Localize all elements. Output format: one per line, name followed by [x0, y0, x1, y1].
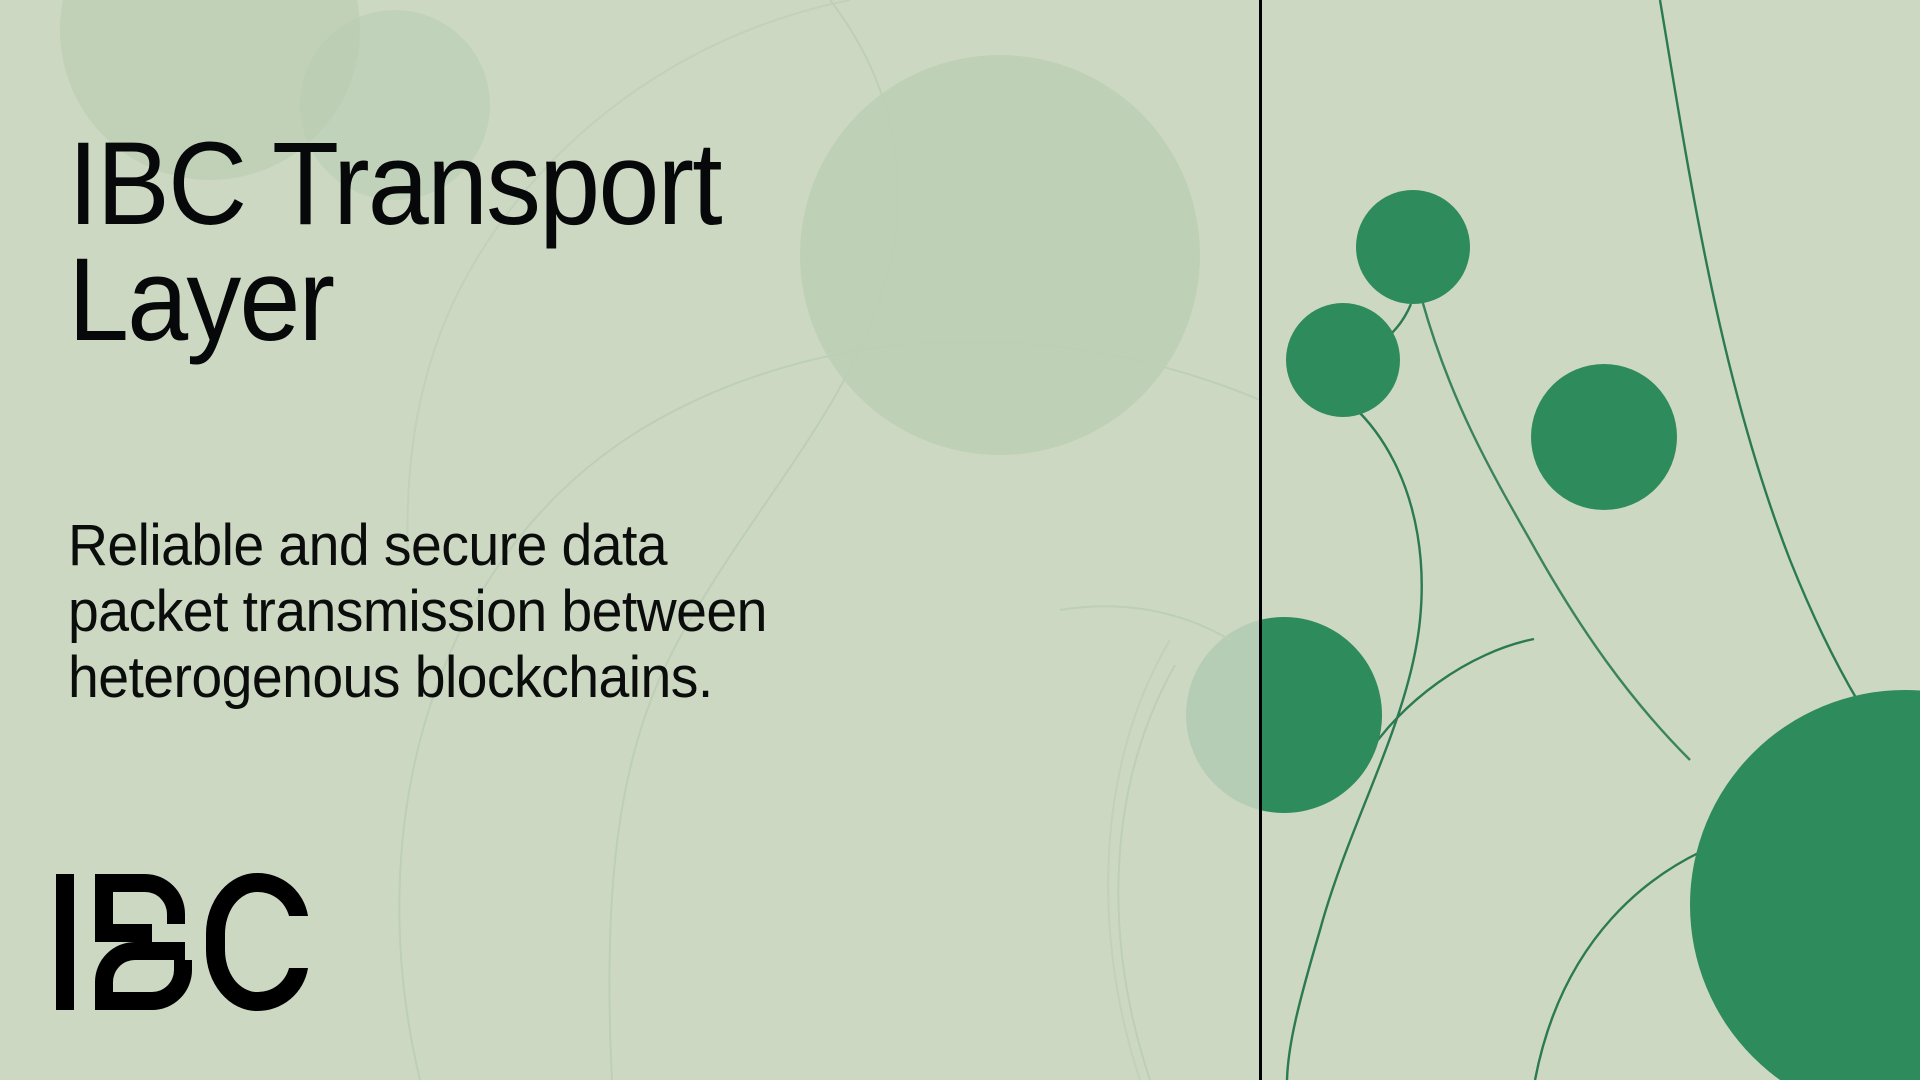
- ghost-node-circle: [1186, 617, 1261, 813]
- page-title: IBC Transport Layer: [68, 127, 1045, 358]
- logo-letter-c: [206, 873, 308, 1011]
- slide-canvas: IBC Transport Layer Reliable and secure …: [0, 0, 1920, 1080]
- network-node: [1262, 617, 1382, 813]
- vertical-divider: [1259, 0, 1262, 1080]
- network-graphic-panel: [1262, 0, 1920, 1080]
- ibc-logo-svg: [56, 872, 308, 1012]
- network-node: [1531, 364, 1677, 510]
- edge-n3-n5: [1660, 0, 1920, 790]
- logo-letter-i: [56, 874, 74, 1010]
- left-content-panel: IBC Transport Layer Reliable and secure …: [0, 0, 1261, 1080]
- network-node: [1286, 303, 1400, 417]
- node-group: [1262, 190, 1920, 1080]
- edge-secondary: [1422, 300, 1690, 760]
- network-node: [1356, 190, 1470, 304]
- page-subtitle: Reliable and secure data packet transmis…: [68, 513, 1128, 711]
- ghost-edge: [1118, 665, 1175, 1080]
- network-graphic-svg: [1262, 0, 1920, 1080]
- ibc-logo[interactable]: [56, 872, 308, 1012]
- network-node: [1690, 690, 1920, 1080]
- logo-letter-b: [95, 874, 192, 1010]
